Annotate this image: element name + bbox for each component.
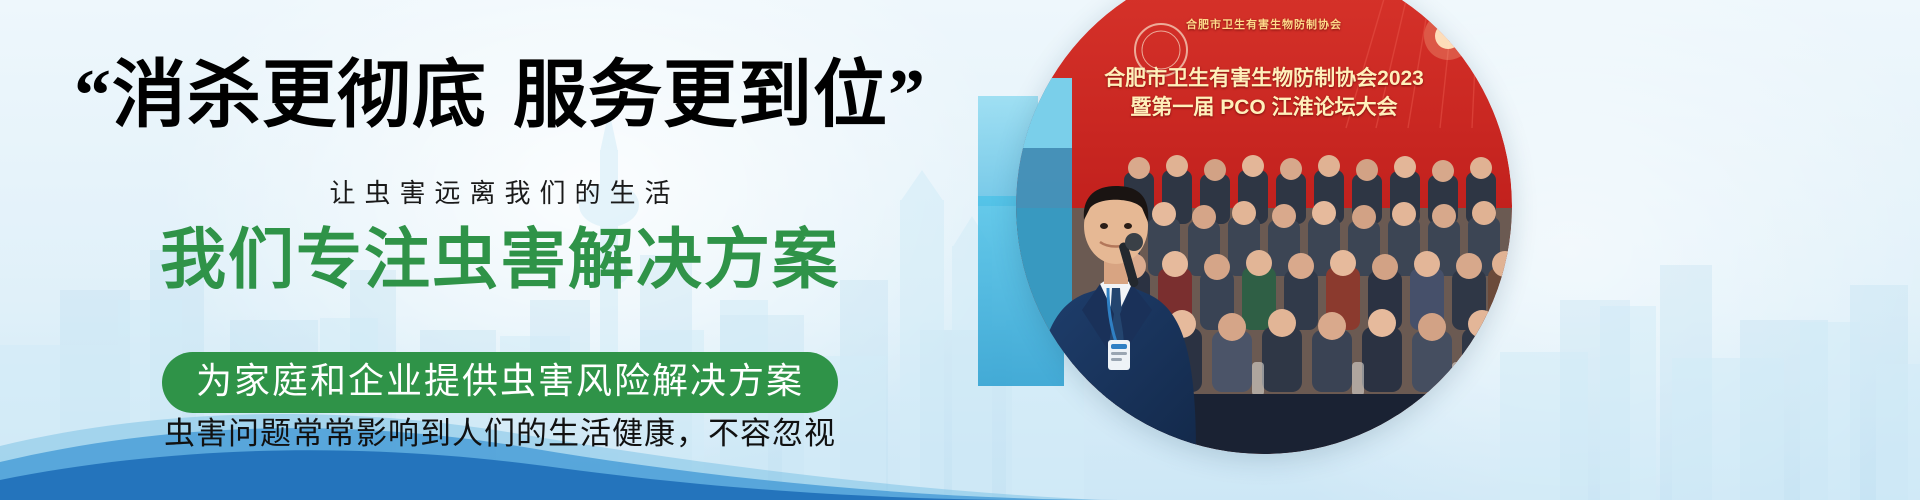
banner-text-block: “消杀更彻底服务更到位” 让虫害远离我们的生活 我们专注虫害解决方案 为家庭和企…	[0, 0, 1000, 500]
headline-part-1: 消杀更彻底	[112, 53, 487, 136]
close-quote: ”	[888, 55, 926, 137]
banner-headline: “消杀更彻底服务更到位”	[0, 58, 1000, 133]
banner-tagline: 虫害问题常常影响到人们的生活健康，不容忽视	[0, 418, 1000, 449]
backdrop-association-name: 合肥市卫生有害生物防制协会	[1016, 16, 1512, 32]
banner-green-title: 我们专注虫害解决方案	[0, 218, 1000, 301]
photo-backdrop-text: 合肥市卫生有害生物防制协会 合肥市卫生有害生物防制协会2023 暨第一届 PCO…	[1016, 0, 1512, 454]
banner-pill-badge: 为家庭和企业提供虫害风险解决方案	[162, 352, 838, 413]
banner-pill-wrapper: 为家庭和企业提供虫害风险解决方案	[0, 352, 1000, 413]
headline-part-2: 服务更到位	[513, 53, 888, 136]
conference-photo: 合肥市卫生有害生物防制协会 合肥市卫生有害生物防制协会2023 暨第一届 PCO…	[1016, 0, 1512, 454]
backdrop-title-line-1: 合肥市卫生有害生物防制协会2023	[1016, 62, 1512, 92]
backdrop-title-line-2: 暨第一届 PCO 江淮论坛大会	[1016, 91, 1512, 121]
promo-banner: 合肥市卫生有害生物防制协会 合肥市卫生有害生物防制协会2023 暨第一届 PCO…	[0, 0, 1920, 500]
banner-subtitle: 让虫害远离我们的生活	[0, 180, 1000, 206]
open-quote: “	[74, 55, 112, 137]
